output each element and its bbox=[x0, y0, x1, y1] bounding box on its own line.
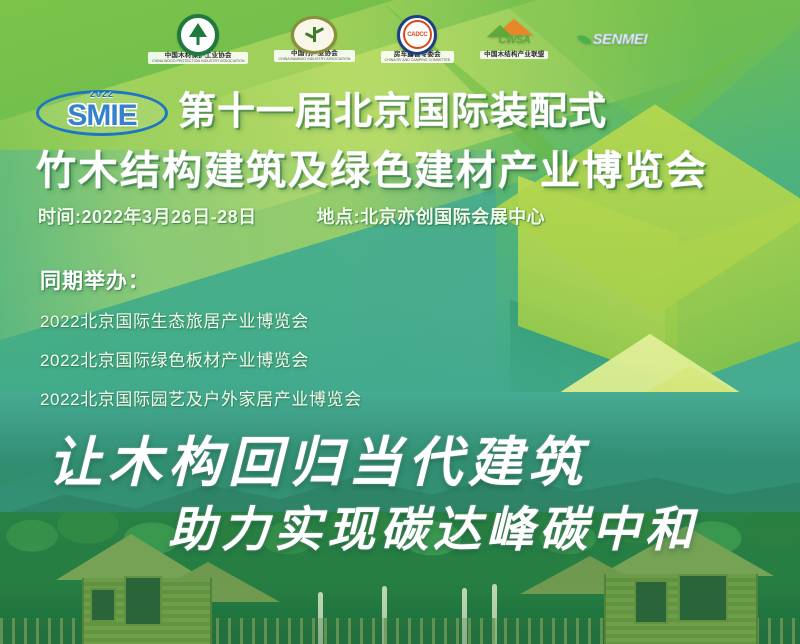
slogan-line-1: 让木构回归当代建筑 bbox=[48, 418, 588, 497]
concurrent-event-item: 2022北京国际绿色板材产业博览会 bbox=[40, 346, 362, 371]
event-date: 时间:2022年3月26日-28日 bbox=[38, 203, 257, 229]
logo-cwsa-wood-structure-alliance[interactable]: CWSA 中国木结构产业联盟 bbox=[480, 19, 548, 60]
smie-year: 2022 bbox=[90, 89, 114, 99]
cadcc-abbr: CADCC bbox=[407, 32, 427, 38]
event-venue: 地点:北京亦创国际会展中心 bbox=[317, 203, 546, 229]
logo-china-bamboo-industry[interactable]: 中国竹产业协会 CHINA BAMBOO INDUSTRY ASSOCIATIO… bbox=[274, 16, 354, 63]
slogan-line-2: 助力实现碳达峰碳中和 bbox=[168, 490, 698, 560]
concurrent-events-heading: 同期举办： bbox=[40, 265, 362, 295]
exhibition-poster: 中国木材保护工业协会 CHINA WOOD PROTECTION INDUSTR… bbox=[0, 0, 800, 644]
smie-logo[interactable]: 2022 SMIE bbox=[36, 88, 168, 138]
poster-title-line-1: 第十一届北京国际装配式 bbox=[178, 93, 607, 133]
cadcc-badge-icon: CADCC bbox=[397, 15, 437, 55]
cwsa-abbr: CWSA bbox=[489, 34, 539, 46]
logo-cadcc-rv-camping[interactable]: CADCC 房车露营专委会 CHINA RV AND CAMPING COMMI… bbox=[381, 15, 455, 64]
logo-china-wood-protection[interactable]: 中国木材保护工业协会 CHINA WOOD PROTECTION INDUSTR… bbox=[148, 14, 248, 65]
concurrent-events-block: 同期举办： 2022北京国际生态旅居产业博览会 2022北京国际绿色板材产业博览… bbox=[40, 265, 362, 424]
association-logo-strip: 中国木材保护工业协会 CHINA WOOD PROTECTION INDUSTR… bbox=[0, 8, 800, 70]
poster-title-line-2: 竹木结构建筑及绿色建材产业博览会 bbox=[36, 138, 708, 196]
bamboo-seal-icon bbox=[291, 16, 337, 54]
concurrent-event-item: 2022北京国际生态旅居产业博览会 bbox=[40, 307, 362, 332]
senmei-wordmark: SENMEI bbox=[592, 31, 647, 48]
logo-senmei[interactable]: SENMEI bbox=[574, 28, 652, 51]
senmei-leaf-icon: SENMEI bbox=[574, 28, 652, 51]
title-row: 2022 SMIE 第十一届北京国际装配式 bbox=[36, 88, 780, 138]
cwsa-house-icon: CWSA bbox=[485, 19, 543, 55]
event-meta: 时间:2022年3月26日-28日 地点:北京亦创国际会展中心 bbox=[38, 203, 545, 229]
concurrent-event-item: 2022北京国际园艺及户外家居产业博览会 bbox=[40, 385, 362, 410]
tree-in-circle-icon bbox=[177, 14, 219, 56]
